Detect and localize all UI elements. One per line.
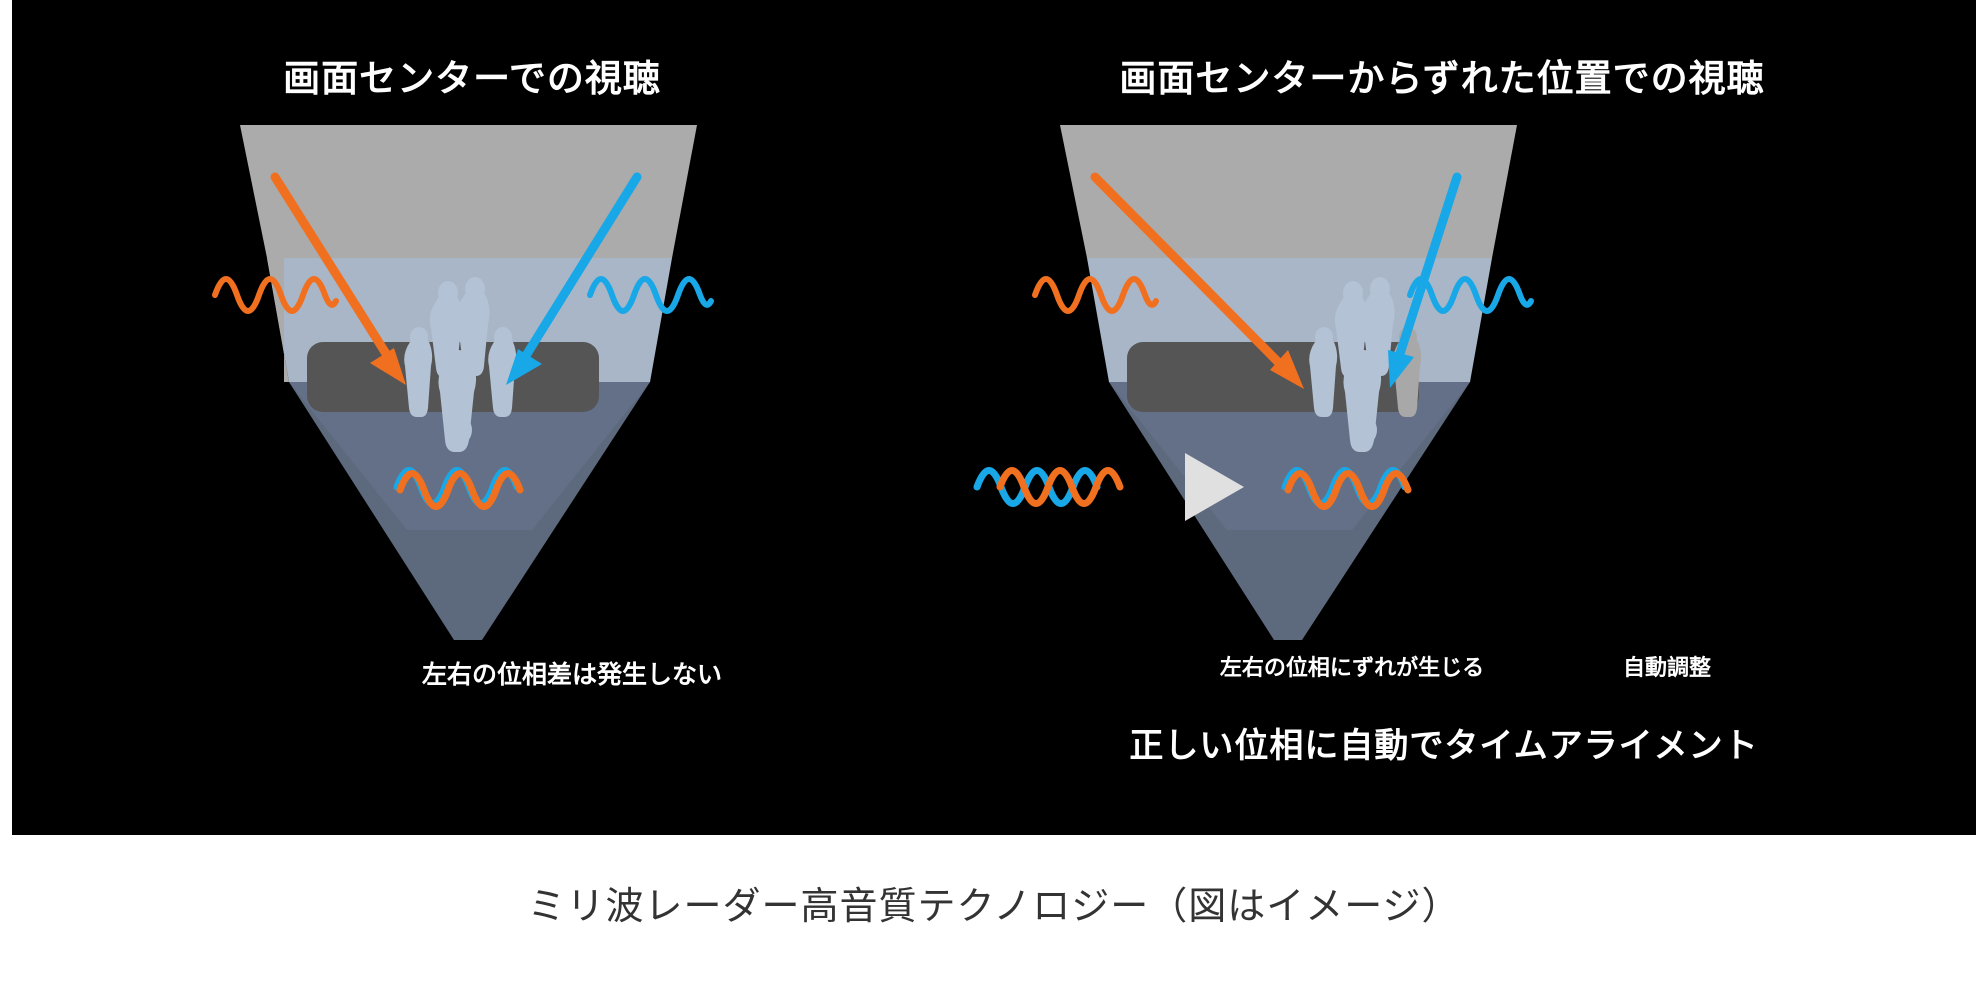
center-listening-graphic — [12, 0, 992, 835]
panel-title-offset-listening: 画面センターからずれた位置での視聴 — [912, 48, 1972, 102]
combined-wave-out-of-phase — [977, 471, 1120, 504]
scene-center-listening — [12, 0, 992, 835]
caption-auto-adjust: 自動調整 — [1557, 650, 1777, 682]
caption-no-phase-difference: 左右の位相差は発生しない — [12, 655, 1132, 691]
figure-caption: ミリ波レーダー高音質テクノロジー（図はイメージ） — [0, 875, 1988, 930]
figure-page: 画面センターでの視聴 画面センターからずれた位置での視聴 左右の位相差は発生しな… — [0, 0, 1988, 995]
panel-title-center-listening: 画面センターでの視聴 — [12, 48, 932, 102]
scene-offset-listening — [932, 0, 1912, 835]
caption-auto-time-alignment: 正しい位相に自動でタイムアライメント — [912, 718, 1976, 767]
illustration-panel: 画面センターでの視聴 画面センターからずれた位置での視聴 左右の位相差は発生しな… — [12, 0, 1976, 835]
caption-phase-shift-occurs: 左右の位相にずれが生じる — [1152, 650, 1552, 682]
offset-listening-graphic — [932, 0, 1976, 835]
